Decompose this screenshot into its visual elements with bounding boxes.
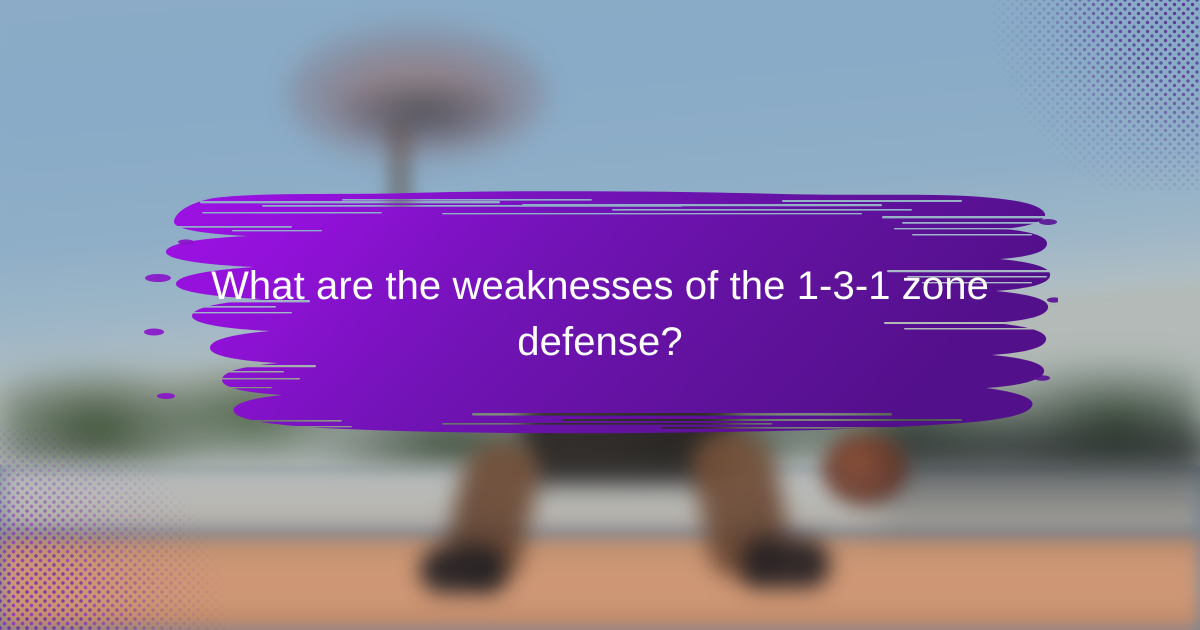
- headline-text: What are the weaknesses of the 1-3-1 zon…: [150, 258, 1050, 370]
- share-card: What are the weaknesses of the 1-3-1 zon…: [0, 0, 1200, 630]
